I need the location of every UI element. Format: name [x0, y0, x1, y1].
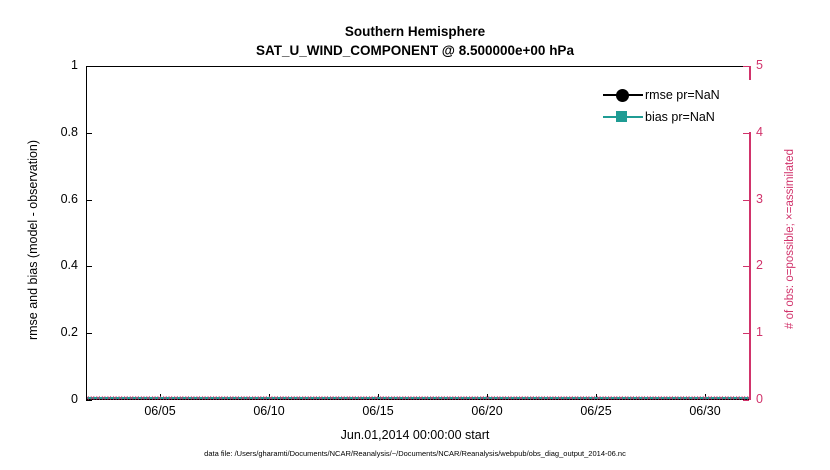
xtick-label-2: 06/15	[343, 404, 413, 418]
ytick-label-left-1: 0.2	[38, 325, 78, 339]
legend-label-bias: bias pr=NaN	[645, 110, 715, 124]
ytick-mark-left-0.2	[86, 333, 92, 334]
ytick-mark-left-1	[86, 66, 92, 67]
ytick-mark-left-0.4	[86, 266, 92, 267]
chart-subtitle: SAT_U_WIND_COMPONENT @ 8.500000e+00 hPa	[0, 41, 830, 60]
y-axis-label-left: rmse and bias (model - observation)	[26, 75, 40, 405]
data-file-footnote: data file: /Users/gharamti/Documents/NCA…	[0, 449, 830, 458]
xtick-label-3: 06/20	[452, 404, 522, 418]
chart-title-block: Southern Hemisphere SAT_U_WIND_COMPONENT…	[0, 22, 830, 60]
chart-title: Southern Hemisphere	[0, 22, 830, 41]
ytick-label-right-5: 5	[756, 58, 796, 72]
obs-marker-band: ××××××××××××××××××××××××××××××××××××××××…	[87, 394, 749, 403]
x-axis-label: Jun.01,2014 00:00:00 start	[0, 428, 830, 442]
xtick-label-4: 06/25	[561, 404, 631, 418]
legend-label-rmse: rmse pr=NaN	[645, 88, 720, 102]
xtick-label-1: 06/10	[234, 404, 304, 418]
legend-marker-bias-icon	[601, 108, 645, 126]
legend: rmse pr=NaN bias pr=NaN	[596, 80, 754, 132]
xtick-label-5: 06/30	[670, 404, 740, 418]
legend-marker-rmse-icon	[601, 86, 645, 104]
ytick-mark-left-0.6	[86, 200, 92, 201]
ytick-label-left-0: 0	[38, 392, 78, 406]
y-axis-label-right: # of obs: o=possible; ×=assimilated	[784, 74, 796, 404]
legend-item-rmse[interactable]: rmse pr=NaN	[601, 84, 749, 106]
xtick-label-0: 06/05	[125, 404, 195, 418]
ytick-label-left-3: 0.6	[38, 192, 78, 206]
ytick-mark-right-1	[743, 333, 749, 334]
ytick-mark-right-3	[743, 200, 749, 201]
chart-page: Southern Hemisphere SAT_U_WIND_COMPONENT…	[0, 0, 830, 470]
obs-marker-x-icon: ×	[746, 395, 750, 402]
legend-item-bias[interactable]: bias pr=NaN	[601, 106, 749, 128]
ytick-mark-right-5	[743, 66, 749, 67]
obs-assimilated-markers: ××××××××××××××××××××××××××××××××××××××××…	[87, 394, 749, 403]
ytick-label-left-2: 0.4	[38, 258, 78, 272]
ytick-mark-left-0.8	[86, 133, 92, 134]
ytick-label-left-5: 1	[38, 58, 78, 72]
ytick-label-left-4: 0.8	[38, 125, 78, 139]
ytick-mark-right-2	[743, 266, 749, 267]
ytick-mark-right-4	[743, 133, 749, 134]
